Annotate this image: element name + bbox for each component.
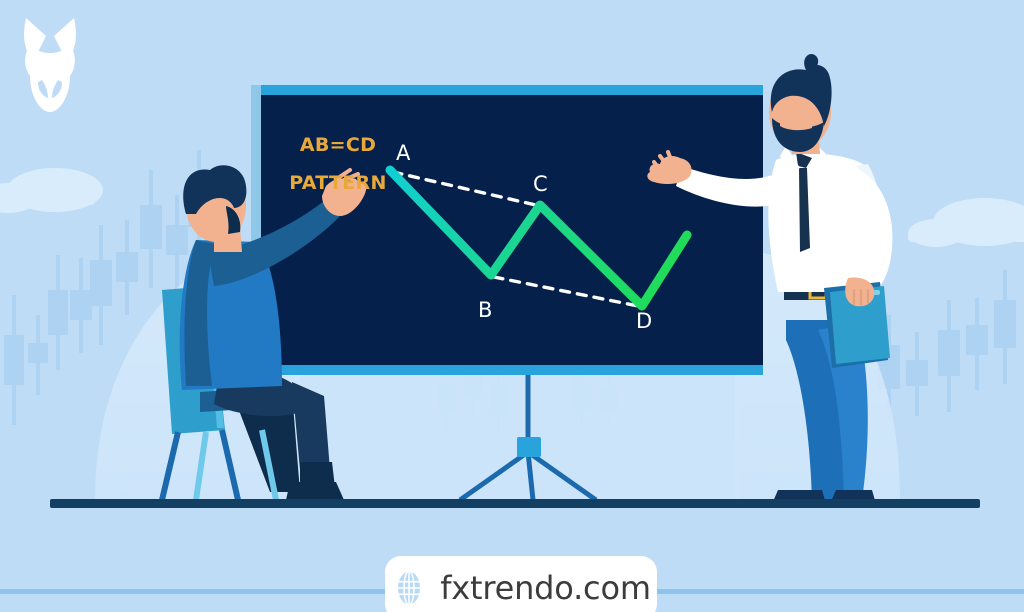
- chart-point-label-b: B: [478, 300, 492, 321]
- chart-point-label-c: C: [533, 174, 548, 195]
- globe-icon: [391, 570, 427, 606]
- chart-point-label-a: A: [396, 143, 410, 164]
- board-headline-line1: AB=CD: [286, 136, 390, 155]
- scene-artwork: [0, 0, 1024, 612]
- board-frame-bottom: [251, 365, 763, 375]
- chart-point-label-d: D: [636, 311, 652, 332]
- floor-line: [50, 499, 980, 508]
- board-headline-line2: PATTERN: [286, 174, 390, 193]
- footer-site-name: fxtrendo.com: [440, 569, 651, 607]
- tripod-joint: [517, 437, 541, 457]
- board-frame-top: [251, 85, 763, 95]
- illustration-canvas: AB=CD PATTERN A B C D fxtrendo.com: [0, 0, 1024, 612]
- board-headline: AB=CD PATTERN: [286, 117, 390, 212]
- footer-brand-pill[interactable]: fxtrendo.com: [385, 556, 657, 612]
